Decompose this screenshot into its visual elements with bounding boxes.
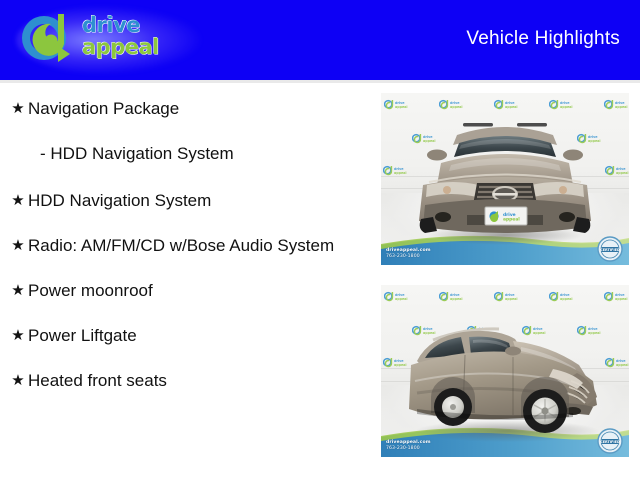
vehicle-photo-front[interactable]: driveappealdriveappealdriveappealdriveap…	[381, 93, 629, 265]
photo-contact-overlay: driveappeal.com 763-230-1800	[386, 248, 431, 260]
star-bullet-icon: ★	[8, 325, 28, 346]
page-title: Vehicle Highlights	[466, 28, 620, 50]
list-item-label: HDD Navigation System	[28, 190, 364, 211]
svg-text:appeal: appeal	[503, 217, 520, 223]
logo-word-appeal: appeal	[82, 37, 202, 58]
list-item-label: Power moonroof	[28, 280, 364, 301]
photo-phone: 763-230-1800	[386, 446, 431, 452]
page-header: drive appeal Vehicle Highlights	[0, 0, 640, 80]
list-item-label: - HDD Navigation System	[28, 143, 364, 164]
drive-appeal-logo[interactable]: drive appeal	[16, 6, 201, 74]
list-item: ★ Power moonroof	[8, 280, 364, 301]
star-bullet-icon: ★	[8, 98, 28, 119]
star-bullet-icon: ★	[8, 280, 28, 301]
list-item-label: Power Liftgate	[28, 325, 364, 346]
star-bullet-icon: ★	[8, 370, 28, 391]
header-divider	[0, 80, 640, 83]
list-item: ★ Power Liftgate	[8, 325, 364, 346]
svg-text:CERTIFIED: CERTIFIED	[600, 440, 620, 444]
vehicle-highlights-list: ★ Navigation Package - HDD Navigation Sy…	[0, 92, 372, 480]
vehicle-image-quarter	[381, 285, 629, 457]
list-item: ★ HDD Navigation System	[8, 190, 364, 211]
list-item: ★ Heated front seats	[8, 370, 364, 391]
list-item: ★ Navigation Package	[8, 98, 364, 119]
vehicle-image-front: drive appeal	[381, 93, 629, 265]
certified-badge-icon: CERTIFIED	[597, 428, 623, 454]
star-bullet-icon: ★	[8, 190, 28, 211]
logo-wordmark: drive appeal	[82, 15, 202, 69]
svg-text:CERTIFIED: CERTIFIED	[600, 248, 620, 252]
list-item: - HDD Navigation System	[8, 143, 364, 164]
vehicle-photo-front-right-quarter[interactable]: driveappealdriveappealdriveappealdriveap…	[381, 285, 629, 457]
photo-contact-overlay: driveappeal.com 763-230-1800	[386, 440, 431, 452]
photo-phone: 763-230-1800	[386, 254, 431, 260]
list-item: ★ Radio: AM/FM/CD w/Bose Audio System	[8, 235, 364, 256]
logo-word-drive: drive	[82, 15, 202, 36]
list-item-label: Radio: AM/FM/CD w/Bose Audio System	[28, 235, 364, 256]
star-bullet-icon: ★	[8, 235, 28, 256]
drive-appeal-logo-mark	[20, 10, 82, 70]
list-item-label: Heated front seats	[28, 370, 364, 391]
list-item-label: Navigation Package	[28, 98, 364, 119]
certified-badge-icon: CERTIFIED	[597, 236, 623, 262]
